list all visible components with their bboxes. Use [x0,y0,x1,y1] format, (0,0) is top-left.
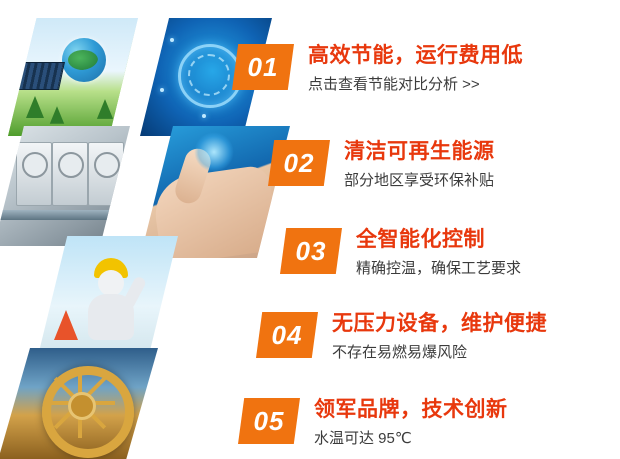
tile-ship-wheel [0,348,158,459]
tile-3d-worker [36,236,178,364]
feature-texts-01: 高效节能，运行费用低 点击查看节能对比分析 >> [308,44,523,95]
feature-number-badge-03: 03 [280,228,342,274]
feature-number-badge-05: 05 [238,398,300,444]
banner-stage: 01 高效节能，运行费用低 点击查看节能对比分析 >> 02 清洁可再生能源 部… [0,0,620,459]
feature-number-02: 02 [284,148,315,179]
feature-row-01[interactable]: 01 高效节能，运行费用低 点击查看节能对比分析 >> [232,44,523,95]
feature-subtitle-02: 部分地区享受环保补贴 [344,171,495,191]
feature-row-02[interactable]: 02 清洁可再生能源 部分地区享受环保补贴 [268,140,495,191]
feature-title-04: 无压力设备，维护便捷 [332,312,547,336]
feature-row-05[interactable]: 05 领军品牌，技术创新 水温可达 95℃ [238,398,508,449]
feature-row-04[interactable]: 04 无压力设备，维护便捷 不存在易燃易爆风险 [256,312,547,363]
feature-number-badge-01: 01 [232,44,294,90]
feature-title-05: 领军品牌，技术创新 [314,398,508,422]
feature-title-01: 高效节能，运行费用低 [308,44,523,68]
tile-solar-globe [8,18,138,136]
feature-texts-02: 清洁可再生能源 部分地区享受环保补贴 [344,140,495,191]
feature-number-badge-04: 04 [256,312,318,358]
feature-title-03: 全智能化控制 [356,228,521,252]
feature-number-05: 05 [254,406,285,437]
tile-heat-pump-units [0,126,130,246]
feature-number-badge-02: 02 [268,140,330,186]
feature-number-04: 04 [272,320,303,351]
globe-graphic [62,38,106,82]
feature-subtitle-01[interactable]: 点击查看节能对比分析 >> [308,75,523,95]
feature-title-02: 清洁可再生能源 [344,140,495,164]
feature-texts-03: 全智能化控制 精确控温，确保工艺要求 [356,228,521,279]
feature-subtitle-04: 不存在易燃易爆风险 [332,343,547,363]
feature-texts-04: 无压力设备，维护便捷 不存在易燃易爆风险 [332,312,547,363]
feature-list: 01 高效节能，运行费用低 点击查看节能对比分析 >> 02 清洁可再生能源 部… [232,0,620,459]
feature-subtitle-03: 精确控温，确保工艺要求 [356,259,521,279]
feature-number-01: 01 [248,52,279,83]
solar-panel-graphic [17,62,65,90]
feature-number-03: 03 [296,236,327,267]
feature-subtitle-05: 水温可达 95℃ [314,429,508,449]
feature-row-03[interactable]: 03 全智能化控制 精确控温，确保工艺要求 [280,228,521,279]
feature-texts-05: 领军品牌，技术创新 水温可达 95℃ [314,398,508,449]
